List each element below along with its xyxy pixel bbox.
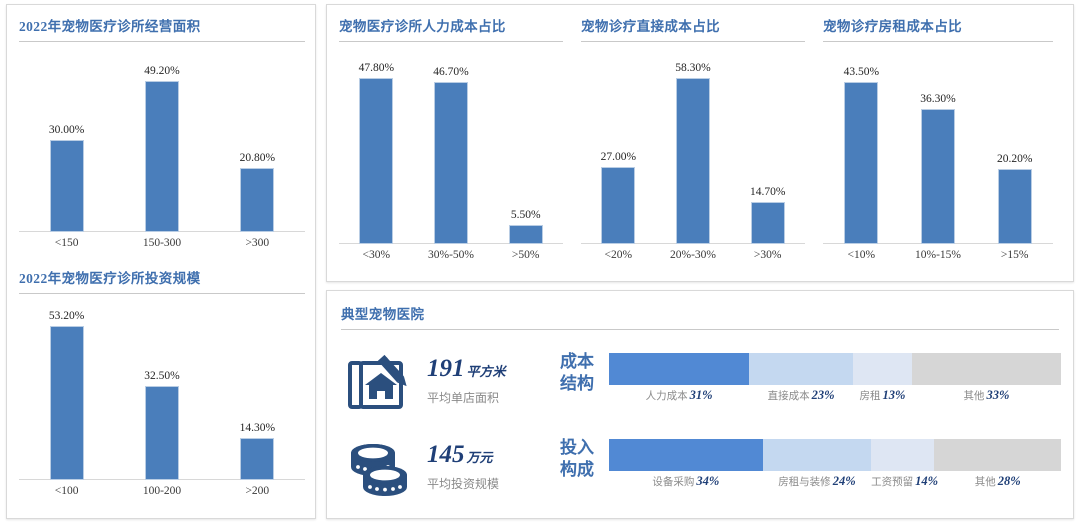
kpi-number-area: 191平方米 — [427, 355, 506, 383]
plot-labor-cost: 47.80% 46.70% 5.50% <30% 30%-50% > — [339, 50, 563, 266]
bar-column: 14.70% — [730, 50, 805, 244]
bar-column: 43.50% — [823, 50, 900, 244]
chart-card-rent-cost: 宠物诊疗房租成本占比 43.50% 36.30% 20.20% — [823, 15, 1053, 273]
legend-value: 24% — [833, 474, 856, 488]
panel-bottom-right: 典型宠物医院 1 — [326, 290, 1074, 519]
stack-segment[interactable] — [749, 353, 853, 385]
bar-column: 47.80% — [339, 50, 414, 244]
bar-value-label: 46.70% — [433, 66, 468, 78]
bar-group-direct-cost: 27.00% 58.30% 14.70% — [581, 50, 805, 244]
kpi-number-text: 145 — [427, 441, 465, 468]
bar-column: 36.30% — [900, 50, 977, 244]
bar-value-label: 14.70% — [750, 186, 785, 198]
stack-label-investment-structure: 投入 构成 — [549, 437, 605, 481]
bar-column: 32.50% — [114, 300, 209, 480]
bar-value-label: 47.80% — [359, 62, 394, 74]
x-axis-tick: <10% — [823, 249, 900, 261]
bar[interactable] — [509, 225, 543, 244]
bar[interactable] — [601, 167, 635, 244]
legend-value: 23% — [812, 388, 835, 402]
plot-operating-area: 30.00% 49.20% 20.80% <150 150-300 — [19, 48, 305, 254]
x-axis-categories: <10% 10%-15% >15% — [823, 244, 1053, 266]
bar-value-label: 5.50% — [511, 209, 541, 221]
stacked-bar-legend: 设备采购34% 房租与装修24% 工资预留14% 其他28% — [609, 471, 1061, 493]
bar-column: 20.80% — [210, 48, 305, 232]
stack-segment[interactable] — [609, 439, 763, 471]
legend-item: 其他33% — [912, 388, 1061, 403]
stack-segment[interactable] — [912, 353, 1061, 385]
bar-group-operating-area: 30.00% 49.20% 20.80% — [19, 48, 305, 232]
bar-value-label: 36.30% — [920, 93, 955, 105]
x-axis-tick: >15% — [976, 249, 1053, 261]
bar-column: 27.00% — [581, 50, 656, 244]
x-axis-tick: 30%-50% — [414, 249, 489, 261]
x-axis-tick: >200 — [210, 485, 305, 497]
legend-value: 31% — [690, 388, 713, 402]
kpi-row-cost-structure: 191平方米 平均单店面积 成本 结构 人力成本31% — [341, 349, 1061, 421]
stack-segment[interactable] — [853, 353, 912, 385]
chart-card-direct-cost: 宠物诊疗直接成本占比 27.00% 58.30% 14.70% — [581, 15, 805, 273]
bar[interactable] — [751, 202, 785, 244]
kpi-number-text: 191 — [427, 355, 465, 382]
bar-column: 53.20% — [19, 300, 114, 480]
bar[interactable] — [50, 140, 84, 232]
plot-investment-scale: 53.20% 32.50% 14.30% <100 100-200 — [19, 300, 305, 502]
legend-label: 设备采购 — [652, 477, 694, 488]
kpi-value: 191 — [427, 355, 465, 382]
plot-direct-cost: 27.00% 58.30% 14.70% <20% 20%-30% — [581, 50, 805, 266]
title-divider — [19, 41, 305, 42]
chart-card-labor-cost: 宠物医疗诊所人力成本占比 47.80% 46.70% 5.50% — [339, 15, 563, 273]
bar-group-rent-cost: 43.50% 36.30% 20.20% — [823, 50, 1053, 244]
bar[interactable] — [676, 78, 710, 244]
x-axis-categories: <30% 30%-50% >50% — [339, 244, 563, 266]
bar-value-label: 20.20% — [997, 153, 1032, 165]
kpi-unit: 平方米 — [467, 364, 506, 379]
bar-column: 58.30% — [656, 50, 731, 244]
x-axis-tick: 150-300 — [114, 237, 209, 249]
stack-segment[interactable] — [763, 439, 871, 471]
legend-item: 人力成本31% — [609, 388, 749, 403]
stack-segment[interactable] — [871, 439, 934, 471]
legend-item: 其他28% — [934, 474, 1061, 489]
bar-value-label: 20.80% — [240, 152, 275, 164]
bar-value-label: 14.30% — [240, 422, 275, 434]
bar-value-label: 27.00% — [601, 151, 636, 163]
stacked-bar-track — [609, 439, 1061, 471]
legend-label: 其他 — [963, 391, 984, 402]
stack-label-line2: 结构 — [549, 373, 605, 395]
bar-value-label: 49.20% — [144, 65, 179, 77]
section-header-typical-hospital: 典型宠物医院 — [341, 303, 1059, 330]
x-axis-tick: >30% — [730, 249, 805, 261]
bar-column: 46.70% — [414, 50, 489, 244]
bar-column: 5.50% — [488, 50, 563, 244]
kpi-unit: 万元 — [467, 450, 493, 465]
x-axis-tick: >300 — [210, 237, 305, 249]
bar-group-investment-scale: 53.20% 32.50% 14.30% — [19, 300, 305, 480]
bar-group-labor-cost: 47.80% 46.70% 5.50% — [339, 50, 563, 244]
chart-title-direct-cost: 宠物诊疗直接成本占比 — [581, 15, 805, 35]
stacked-bar-track — [609, 353, 1061, 385]
bar-value-label: 43.50% — [844, 66, 879, 78]
legend-value: 13% — [882, 388, 905, 402]
bar-value-label: 58.30% — [675, 62, 710, 74]
bar-column: 14.30% — [210, 300, 305, 480]
stack-segment[interactable] — [934, 439, 1061, 471]
x-axis-categories: <20% 20%-30% >30% — [581, 244, 805, 266]
bar-column: 49.20% — [114, 48, 209, 232]
title-divider — [339, 41, 563, 42]
x-axis-tick: <30% — [339, 249, 414, 261]
legend-value: 33% — [986, 388, 1009, 402]
chart-title-rent-cost: 宠物诊疗房租成本占比 — [823, 15, 1053, 35]
legend-label: 房租与装修 — [778, 477, 831, 488]
x-axis-categories: <150 150-300 >300 — [19, 232, 305, 254]
bar[interactable] — [240, 438, 274, 480]
bar[interactable] — [240, 168, 274, 232]
bar[interactable] — [434, 82, 468, 244]
kpi-number-investment: 145万元 — [427, 441, 493, 469]
stacked-bar-cost-structure: 人力成本31% 直接成本23% 房租13% 其他33% — [609, 353, 1061, 407]
legend-item: 直接成本23% — [749, 388, 853, 403]
title-divider — [581, 41, 805, 42]
legend-label: 人力成本 — [646, 391, 688, 402]
title-divider — [341, 329, 1059, 330]
bar-column: 20.20% — [976, 50, 1053, 244]
legend-item: 房租与装修24% — [763, 474, 871, 489]
legend-item: 房租13% — [853, 388, 912, 403]
x-axis-tick: 20%-30% — [656, 249, 731, 261]
kpi-subtitle-area: 平均单店面积 — [427, 389, 499, 406]
bar[interactable] — [998, 169, 1032, 244]
legend-label: 直接成本 — [768, 391, 810, 402]
stack-label-line1: 成本 — [549, 351, 605, 373]
stacked-bar-investment-structure: 设备采购34% 房租与装修24% 工资预留14% 其他28% — [609, 439, 1061, 493]
bar[interactable] — [145, 386, 179, 480]
stacked-bar-legend: 人力成本31% 直接成本23% 房租13% 其他33% — [609, 385, 1061, 407]
x-axis-tick: >50% — [488, 249, 563, 261]
legend-label: 房租 — [859, 391, 880, 402]
bar-value-label: 30.00% — [49, 124, 84, 136]
legend-value: 28% — [998, 474, 1021, 488]
bar-value-label: 53.20% — [49, 310, 84, 322]
title-divider — [823, 41, 1053, 42]
title-divider — [19, 293, 305, 294]
bar-value-label: 32.50% — [144, 370, 179, 382]
bar[interactable] — [50, 326, 84, 480]
x-axis-tick: 10%-15% — [900, 249, 977, 261]
chart-title-labor-cost: 宠物医疗诊所人力成本占比 — [339, 15, 563, 35]
stack-label-cost-structure: 成本 结构 — [549, 351, 605, 395]
section-title: 典型宠物医院 — [341, 303, 1059, 323]
stack-label-line1: 投入 — [549, 437, 605, 459]
chart-card-operating-area: 2022年宠物医疗诊所经营面积 30.00% 49.20% 20.80% — [19, 15, 305, 263]
legend-item: 工资预留14% — [871, 474, 934, 489]
x-axis-categories: <100 100-200 >200 — [19, 480, 305, 502]
legend-label: 其他 — [975, 477, 996, 488]
plot-rent-cost: 43.50% 36.30% 20.20% <10% 10%-15% — [823, 50, 1053, 266]
stacked-coins-icon — [345, 437, 413, 503]
bar[interactable] — [145, 81, 179, 232]
chart-card-investment-scale: 2022年宠物医疗诊所投资规模 53.20% 32.50% 14.30% — [19, 267, 305, 511]
x-axis-tick: 100-200 — [114, 485, 209, 497]
legend-value: 34% — [696, 474, 719, 488]
stack-label-line2: 构成 — [549, 459, 605, 481]
stack-segment[interactable] — [609, 353, 749, 385]
legend-item: 设备采购34% — [609, 474, 763, 489]
x-axis-tick: <20% — [581, 249, 656, 261]
infographic-page: 2022年宠物医疗诊所经营面积 30.00% 49.20% 20.80% — [0, 0, 1080, 523]
bar[interactable] — [359, 78, 393, 244]
x-axis-tick: <100 — [19, 485, 114, 497]
bar[interactable] — [921, 109, 955, 244]
panel-top-right: 宠物医疗诊所人力成本占比 47.80% 46.70% 5.50% — [326, 4, 1074, 282]
x-axis-tick: <150 — [19, 237, 114, 249]
kpi-row-investment-structure: 145万元 平均投资规模 投入 构成 设备采购34% — [341, 435, 1061, 507]
blueprint-house-icon — [345, 351, 413, 417]
panel-left: 2022年宠物医疗诊所经营面积 30.00% 49.20% 20.80% — [6, 4, 316, 519]
bar[interactable] — [844, 82, 878, 244]
bar-column: 30.00% — [19, 48, 114, 232]
chart-title-investment-scale: 2022年宠物医疗诊所投资规模 — [19, 267, 305, 287]
chart-title-operating-area: 2022年宠物医疗诊所经营面积 — [19, 15, 305, 35]
kpi-subtitle-investment: 平均投资规模 — [427, 475, 499, 492]
legend-label: 工资预留 — [871, 477, 913, 488]
